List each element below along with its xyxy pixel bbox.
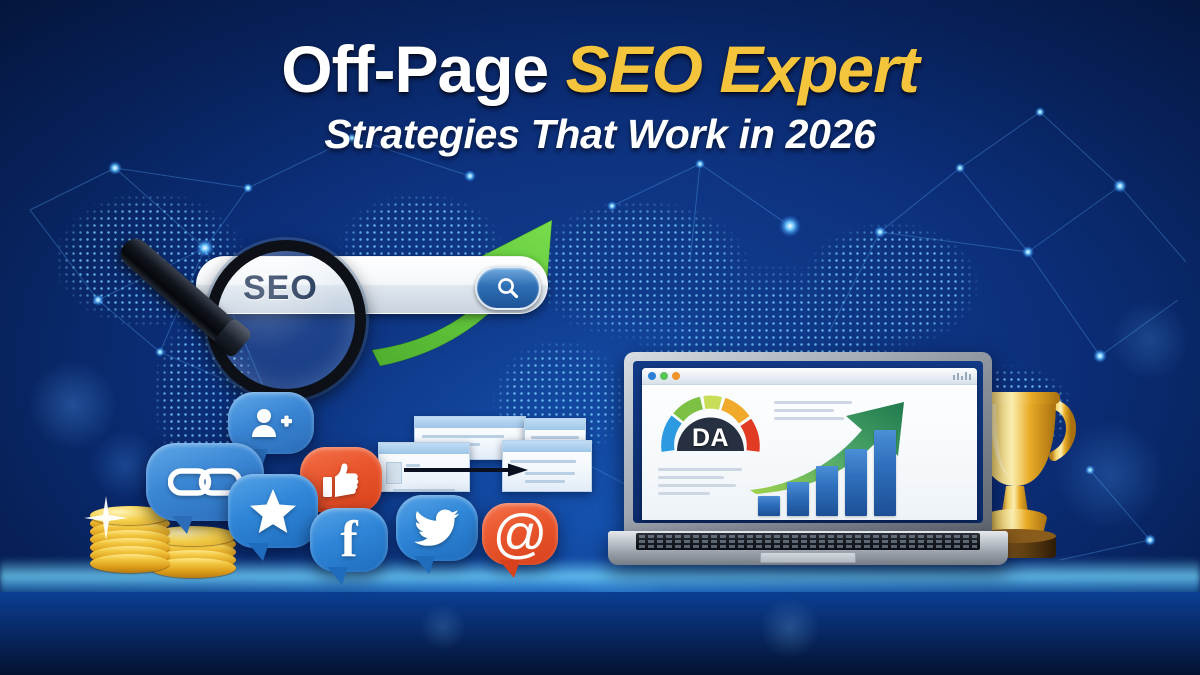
headline-block: Off-Page SEO Expert Strategies That Work… <box>0 36 1200 158</box>
laptop-keyboard[interactable] <box>636 533 980 550</box>
laptop-trackpad[interactable] <box>760 552 856 563</box>
laptop-dashboard: DA <box>608 352 1008 582</box>
thumbs-up-icon <box>322 461 360 499</box>
at-sign-icon: @ <box>493 507 548 561</box>
browser-dot-blue[interactable] <box>648 372 656 380</box>
bubble-email[interactable]: @ <box>482 503 558 565</box>
browser-dot-orange[interactable] <box>672 372 680 380</box>
bubble-twitter[interactable] <box>396 495 478 561</box>
browser-menu-marks <box>953 372 971 380</box>
star-sparkle-icon <box>84 496 128 540</box>
laptop-base <box>608 531 1008 565</box>
floor-surface <box>0 592 1200 675</box>
chart-bar <box>758 496 780 516</box>
page-subtitle: Strategies That Work in 2026 <box>0 111 1200 158</box>
chart-bar <box>816 466 838 516</box>
magnifier-icon <box>495 275 521 301</box>
laptop-screen: DA <box>633 361 983 523</box>
title-part-gold: SEO Expert <box>566 32 919 106</box>
facebook-icon: f <box>340 514 357 566</box>
seo-banner: Off-Page SEO Expert Strategies That Work… <box>0 0 1200 675</box>
browser-dot-green[interactable] <box>660 372 668 380</box>
browser-title-bar <box>642 368 977 385</box>
laptop-lid: DA <box>624 352 992 535</box>
search-button[interactable] <box>475 266 541 310</box>
content-line <box>658 476 724 479</box>
browser-window[interactable]: DA <box>642 368 977 520</box>
bubble-review[interactable] <box>228 474 318 548</box>
twitter-bird-icon <box>414 509 460 547</box>
title-part-white: Off-Page <box>281 32 548 106</box>
content-line <box>658 492 710 495</box>
content-line <box>658 468 742 471</box>
chart-bar <box>845 449 867 516</box>
content-line <box>658 484 736 487</box>
user-plus-icon <box>249 407 293 439</box>
page-title: Off-Page SEO Expert <box>0 36 1200 103</box>
backlink-arrow-icon <box>404 463 528 477</box>
seo-search-widget[interactable]: SEO <box>196 252 548 320</box>
backlink-diagram <box>378 416 593 506</box>
chart-bar <box>787 482 809 516</box>
chart-bar <box>874 430 896 516</box>
star-icon <box>248 487 298 535</box>
bubble-facebook[interactable]: f <box>310 508 388 572</box>
